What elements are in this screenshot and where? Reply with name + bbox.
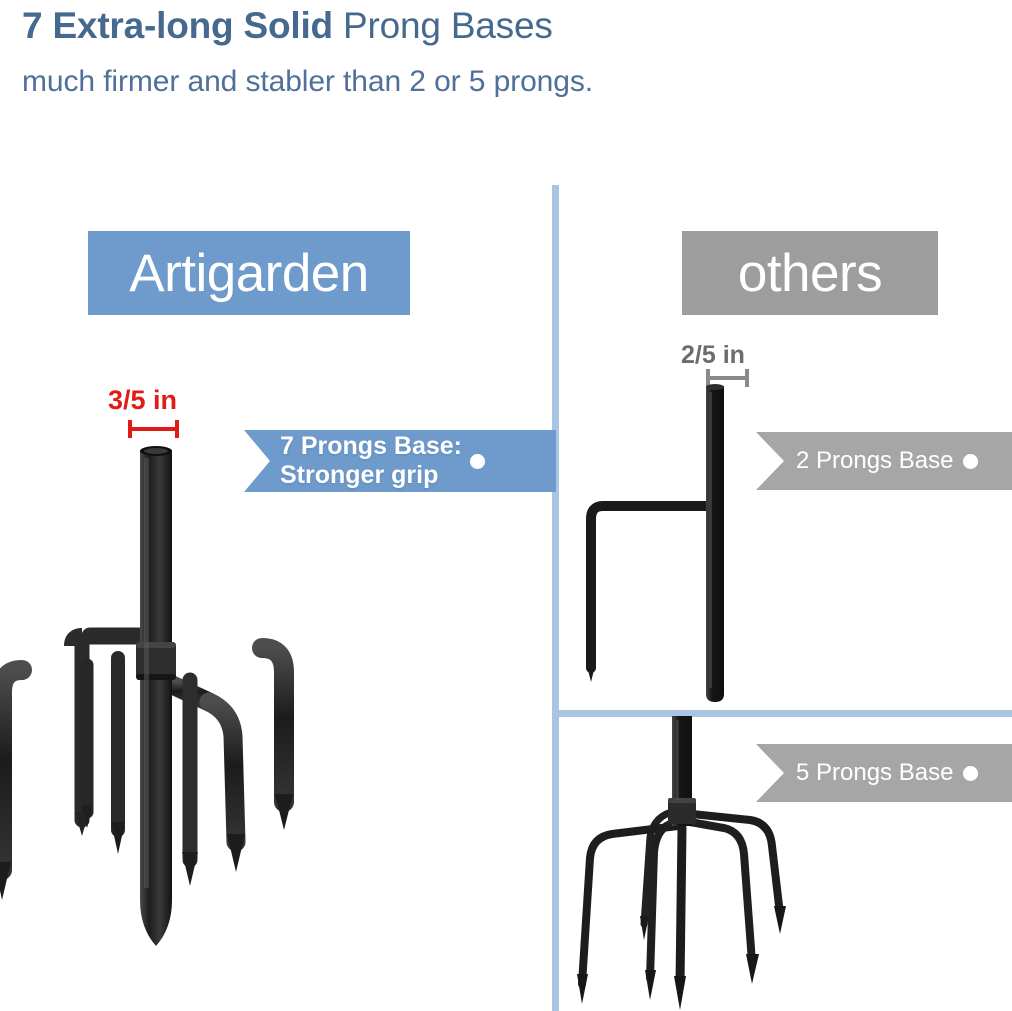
page-title: 7 Extra-long Solid Prong Bases	[22, 2, 553, 50]
brand-chip-label: Artigarden	[129, 243, 369, 304]
callout-flag-2-prongs-label: 2 Prongs Base	[796, 447, 953, 475]
product-image-2-prong	[578, 378, 778, 708]
brand-chip-others: others	[682, 231, 938, 315]
infographic-page: 7 Extra-long Solid Prong Bases much firm…	[0, 0, 1012, 1011]
2-prong-fork-illustration	[578, 378, 778, 708]
dimension-label-left: 3/5 in	[108, 385, 177, 416]
others-chip-label: others	[738, 243, 882, 304]
bullet-dot-icon	[963, 454, 978, 469]
page-title-emphasis: 7 Extra-long Solid	[22, 5, 333, 46]
brand-chip-artigarden: Artigarden	[88, 231, 410, 315]
bullet-dot-icon	[963, 766, 978, 781]
dimension-label-right: 2/5 in	[681, 341, 745, 370]
page-subtitle: much firmer and stabler than 2 or 5 pron…	[22, 62, 593, 102]
callout-flag-5-prongs-label: 5 Prongs Base	[796, 759, 953, 787]
product-image-7-prong	[0, 430, 334, 990]
bullet-dot-icon	[470, 454, 485, 469]
callout-flag-7-prongs: 7 Prongs Base: Stronger grip	[244, 430, 556, 492]
callout-flag-7-prongs-label: 7 Prongs Base: Stronger grip	[280, 432, 462, 490]
vertical-divider	[552, 185, 559, 1011]
callout-flag-2-prongs: 2 Prongs Base	[756, 432, 1012, 490]
7-prong-fork-illustration	[0, 430, 334, 990]
page-title-rest: Prong Bases	[333, 5, 553, 46]
